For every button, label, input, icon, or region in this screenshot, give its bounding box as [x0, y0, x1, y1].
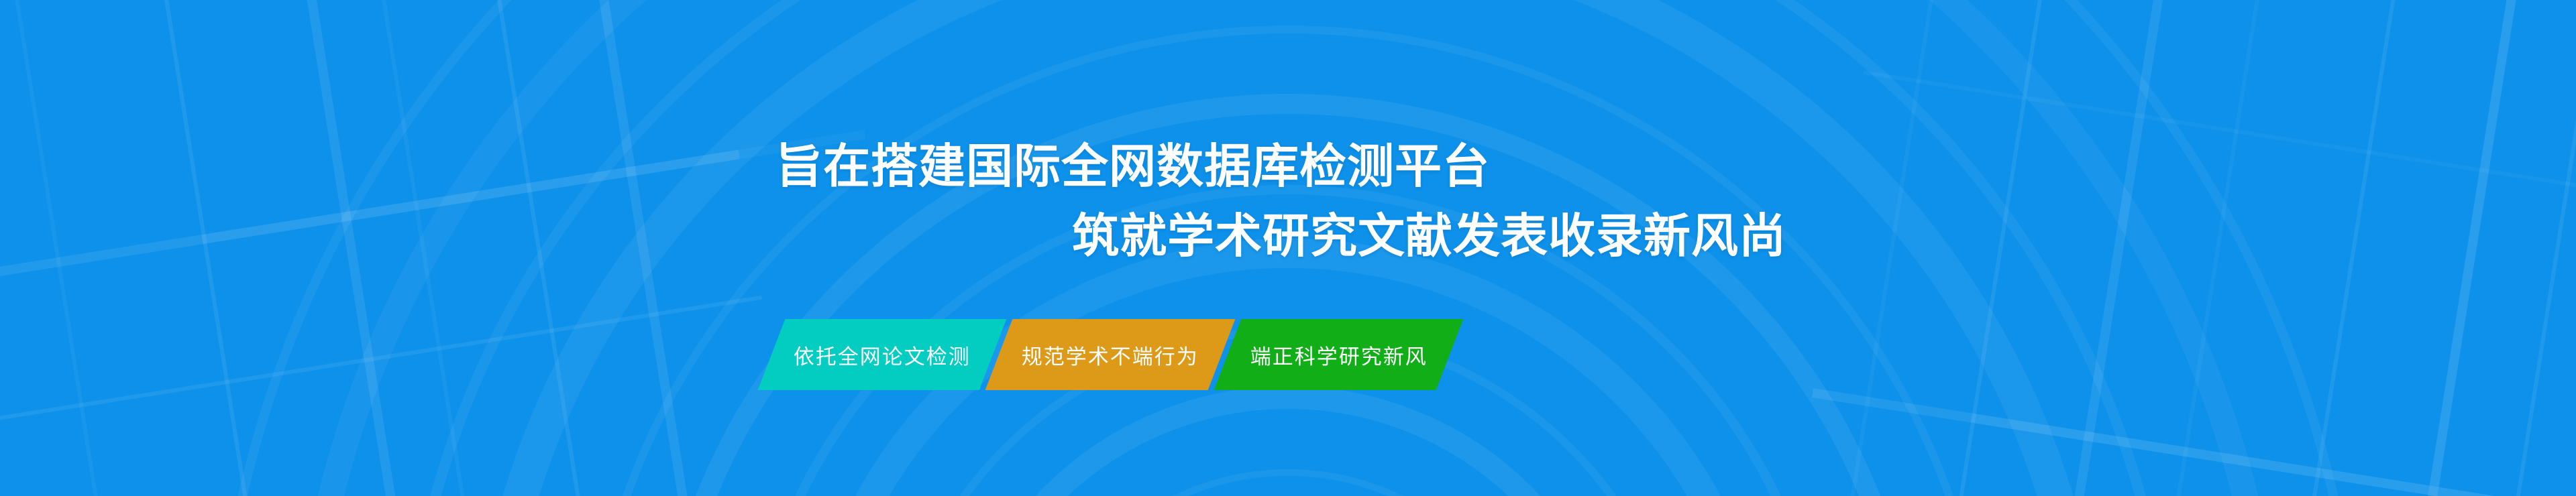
feature-tag-3-label: 端正科学研究新风: [1250, 340, 1428, 370]
feature-tag-2[interactable]: 规范学术不端行为: [985, 319, 1236, 390]
feature-tag-2-label: 规范学术不端行为: [1022, 340, 1199, 370]
feature-tag-1-label: 依托全网论文检测: [794, 340, 971, 370]
headline-block: 旨在搭建国际全网数据库检测平台 筑就学术研究文献发表收录新风尚: [0, 131, 2576, 271]
headline-line-1: 旨在搭建国际全网数据库检测平台: [775, 131, 2576, 201]
feature-tag-group: 依托全网论文检测 规范学术不端行为 端正科学研究新风: [771, 319, 1450, 390]
feature-tag-3[interactable]: 端正科学研究新风: [1214, 319, 1464, 390]
promo-banner: 旨在搭建国际全网数据库检测平台 筑就学术研究文献发表收录新风尚 依托全网论文检测…: [0, 0, 2576, 496]
feature-tag-1[interactable]: 依托全网论文检测: [758, 319, 1007, 390]
headline-line-2: 筑就学术研究文献发表收录新风尚: [1072, 201, 2576, 271]
